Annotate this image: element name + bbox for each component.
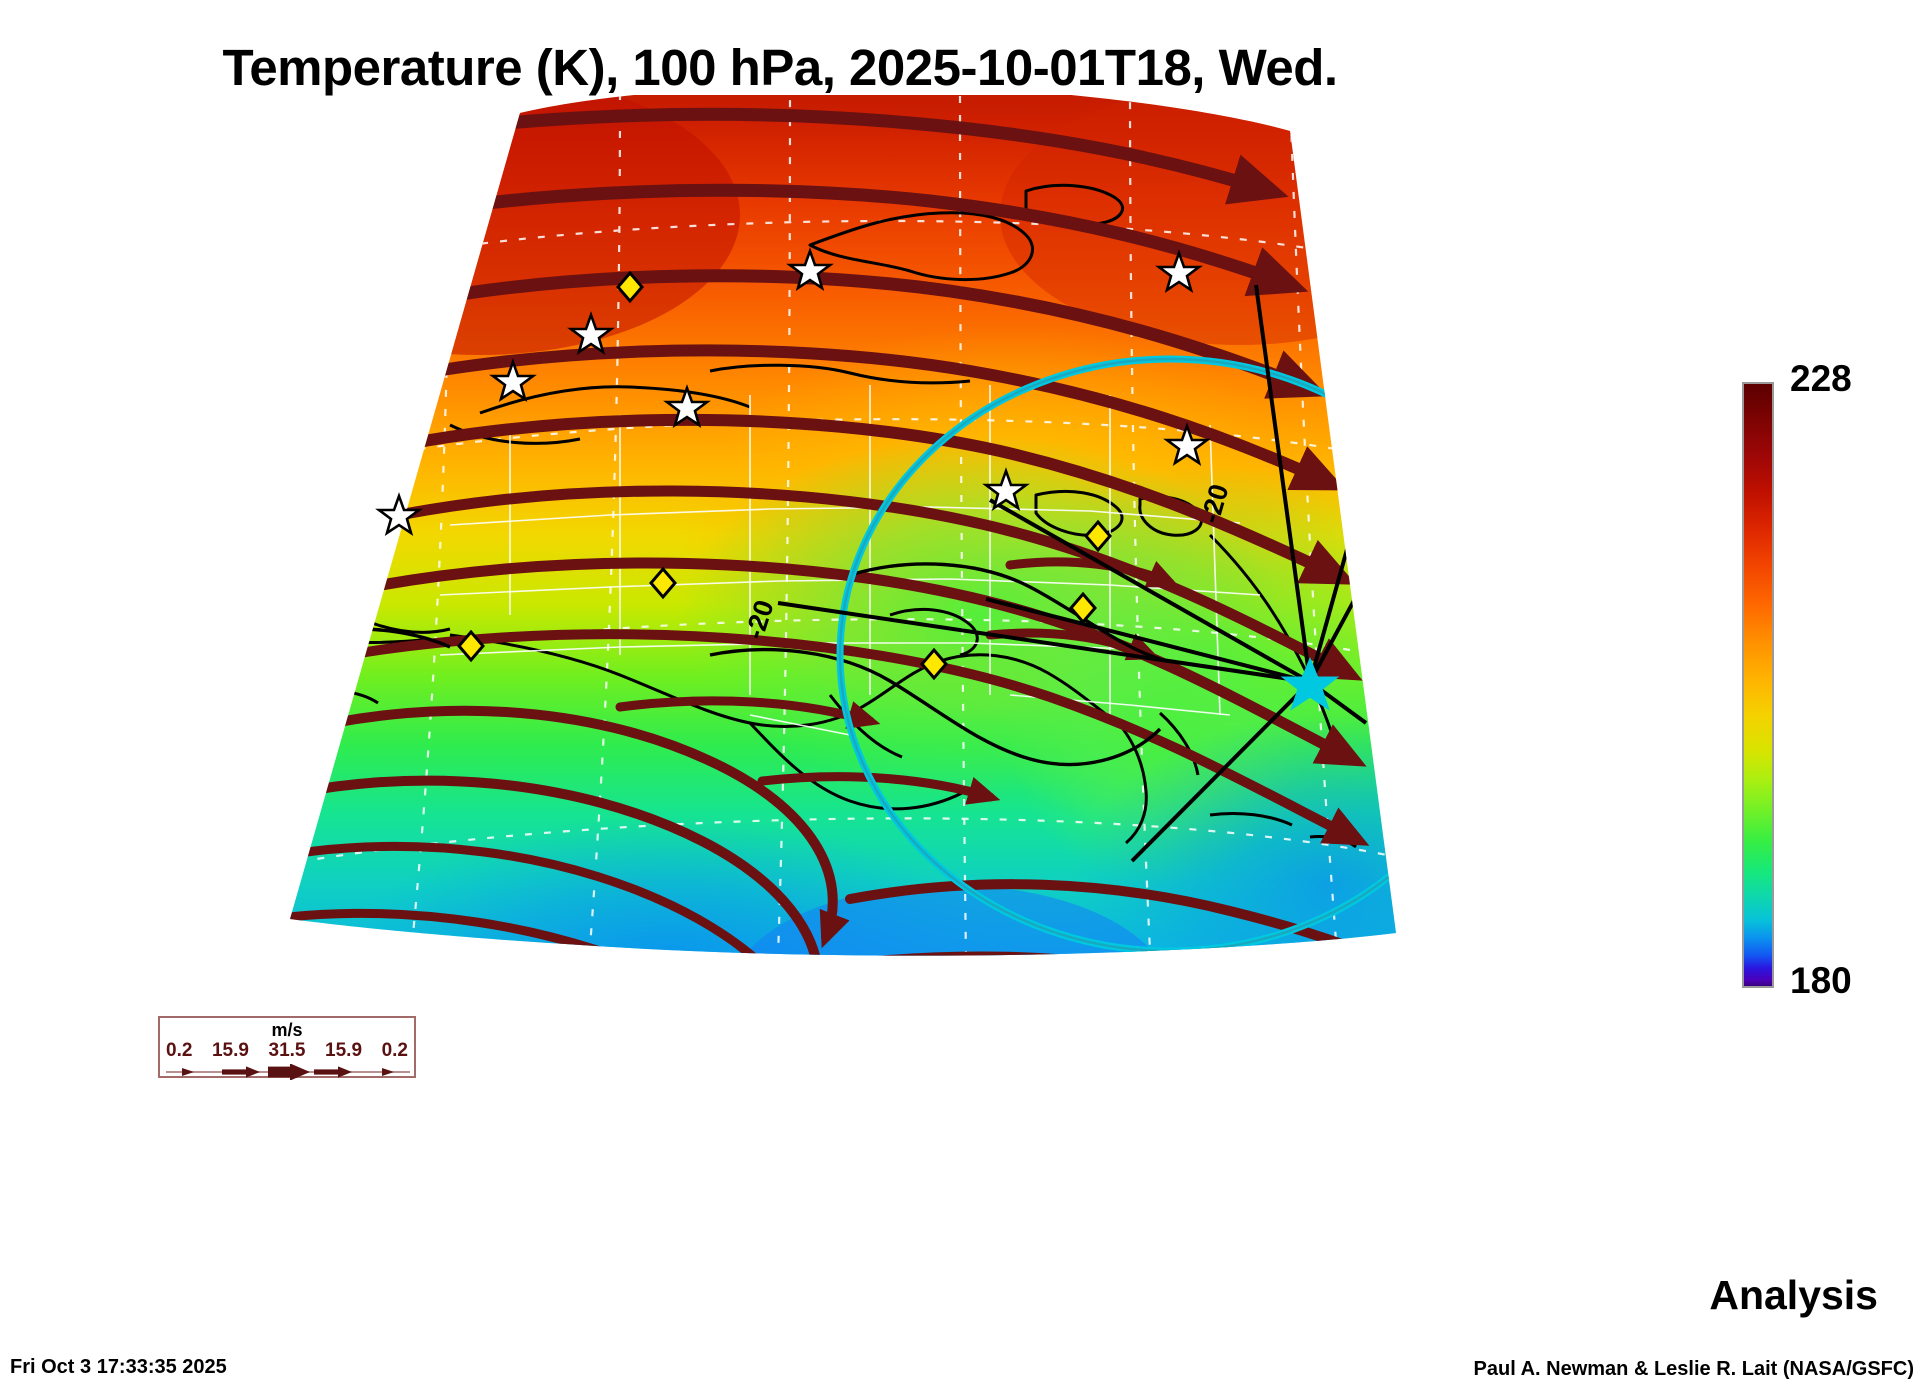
wind-legend-value: 15.9 <box>325 1040 362 1062</box>
figure-canvas: Temperature (K), 100 hPa, 2025-10-01T18,… <box>0 0 1926 1394</box>
wind-legend-values: 0.2 15.9 31.5 15.9 0.2 <box>166 1040 408 1062</box>
colorbar-min-label: 180 <box>1790 960 1852 1002</box>
wind-legend-value: 31.5 <box>269 1040 306 1062</box>
map-svg[interactable]: -20 -20 <box>150 95 1570 1045</box>
map-panel[interactable]: -20 -20 <box>150 95 1570 1045</box>
wind-legend-arrow-scale <box>164 1064 412 1080</box>
analysis-label: Analysis <box>1709 1272 1878 1319</box>
colorbar[interactable]: 228 180 <box>1742 382 1782 988</box>
colorbar-gradient[interactable] <box>1742 382 1774 988</box>
wind-legend-units-label: m/s <box>160 1020 414 1041</box>
generation-timestamp: Fri Oct 3 17:33:35 2025 <box>10 1356 227 1379</box>
page-title: Temperature (K), 100 hPa, 2025-10-01T18,… <box>0 38 1560 97</box>
author-credit: Paul A. Newman & Leslie R. Lait (NASA/GS… <box>1474 1358 1914 1381</box>
wind-legend-value: 0.2 <box>382 1040 408 1062</box>
wind-speed-legend: m/s 0.2 15.9 31.5 15.9 0.2 <box>158 1016 416 1078</box>
map-contour-field <box>150 95 1570 1045</box>
colorbar-max-label: 228 <box>1790 358 1852 400</box>
wind-legend-value: 0.2 <box>166 1040 192 1062</box>
wind-legend-value: 15.9 <box>212 1040 249 1062</box>
